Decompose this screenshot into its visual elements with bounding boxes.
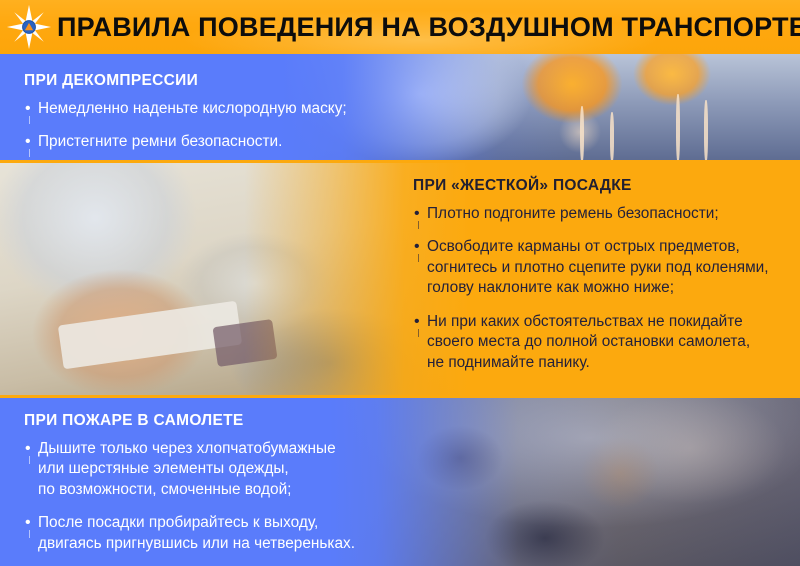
page-title: ПРАВИЛА ПОВЕДЕНИЯ НА ВОЗДУШНОМ ТРАНСПОРТ…: [57, 12, 800, 43]
list-item: Ни при каких обстоятельствах не покидайт…: [413, 312, 788, 373]
emercom-star-emblem: [6, 4, 52, 50]
bullet-text: Освободите карманы от острых предметов,: [427, 237, 788, 257]
list-item: Немедленно наденьте кислородную маску;: [24, 99, 404, 119]
seat-belt-buckle: [213, 319, 278, 367]
list-item: Дышите только через хлопчатобумажные или…: [24, 439, 424, 500]
mask-strap-icon: [704, 100, 708, 162]
bullet-list-hard-landing: Плотно подгоните ремень безопасности; Ос…: [413, 204, 788, 373]
bullet-list-fire: Дышите только через хлопчатобумажные или…: [24, 439, 424, 554]
bullet-text: Немедленно наденьте кислородную маску;: [38, 99, 404, 119]
bullet-text: своего места до полной остановки самолет…: [427, 332, 788, 352]
bullet-text: согнитесь и плотно сцепите руки под коле…: [427, 258, 788, 278]
section-title-decompression: ПРИ ДЕКОМПРЕССИИ: [24, 72, 404, 90]
seat-belt-strap: [58, 301, 242, 370]
bullet-text: или шерстяные элементы одежды,: [38, 459, 424, 479]
bullet-text: двигаясь пригнувшись или на четвереньках…: [38, 534, 424, 554]
bullet-text: по возможности, смоченные водой;: [38, 480, 424, 500]
bullet-text: голову наклоните как можно ниже;: [427, 278, 788, 298]
list-item: Плотно подгоните ремень безопасности;: [413, 204, 788, 224]
bullet-text: Плотно подгоните ремень безопасности;: [427, 204, 788, 224]
section-title-fire: ПРИ ПОЖАРЕ В САМОЛЕТЕ: [24, 412, 424, 430]
poster-header: ПРАВИЛА ПОВЕДЕНИЯ НА ВОЗДУШНОМ ТРАНСПОРТ…: [0, 0, 800, 54]
photo-seat-belt: [0, 163, 470, 398]
bullet-text: Пристегните ремни безопасности.: [38, 132, 404, 152]
bullet-text: Ни при каких обстоятельствах не покидайт…: [427, 312, 788, 332]
section-fire-text: ПРИ ПОЖАРЕ В САМОЛЕТЕ Дышите только чере…: [24, 412, 424, 554]
mask-strap-icon: [580, 106, 584, 162]
bullet-list-decompression: Немедленно наденьте кислородную маску; П…: [24, 99, 404, 153]
list-item: Пристегните ремни безопасности.: [24, 132, 404, 152]
bullet-text: не поднимайте панику.: [427, 353, 788, 373]
mask-strap-icon: [610, 112, 614, 162]
list-item: После посадки пробирайтесь к выходу, дви…: [24, 513, 424, 554]
divider-line-top: [0, 160, 800, 163]
bullet-text: После посадки пробирайтесь к выходу,: [38, 513, 424, 533]
poster-root: ПРАВИЛА ПОВЕДЕНИЯ НА ВОЗДУШНОМ ТРАНСПОРТ…: [0, 0, 800, 566]
section-title-hard-landing: ПРИ «ЖЕСТКОЙ» ПОСАДКЕ: [413, 177, 788, 195]
section-hard-landing-text: ПРИ «ЖЕСТКОЙ» ПОСАДКЕ Плотно подгоните р…: [413, 177, 788, 373]
mask-strap-icon: [676, 94, 680, 162]
section-decompression-text: ПРИ ДЕКОМПРЕССИИ Немедленно наденьте кис…: [24, 72, 404, 153]
list-item: Освободите карманы от острых предметов, …: [413, 237, 788, 298]
bullet-text: Дышите только через хлопчатобумажные: [38, 439, 424, 459]
divider-line-bottom: [0, 395, 800, 398]
